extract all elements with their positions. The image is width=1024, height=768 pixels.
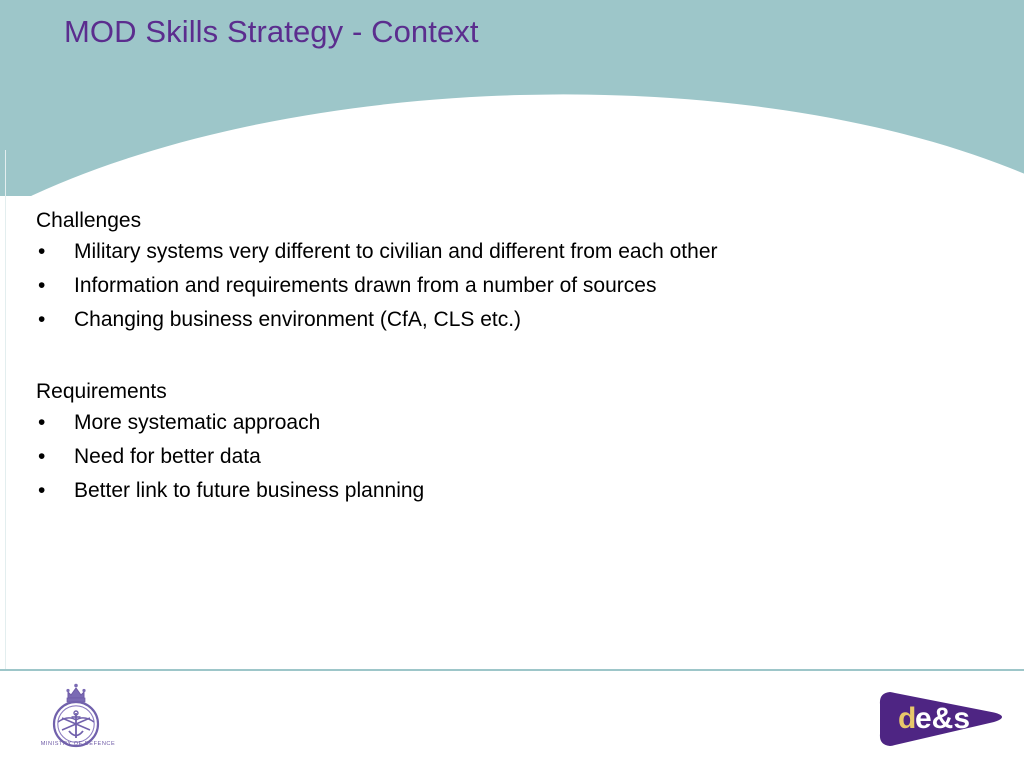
content-group-requirements: Requirements • More systematic approach … [0,377,1024,508]
header-curve-decoration [0,76,1024,196]
mod-crest-icon [24,676,128,762]
group-heading-challenges: Challenges [36,206,1024,235]
des-arrow-logo-icon: d e&s [876,686,1004,752]
bullet-list-challenges: • Military systems very different to civ… [0,235,1024,337]
list-item-text: Changing business environment (CfA, CLS … [74,308,521,331]
list-item: • Need for better data [0,440,949,474]
list-item: • Military systems very different to civ… [0,235,949,269]
list-item-text: Better link to future business planning [74,479,424,502]
svg-text:e&s: e&s [915,702,970,735]
bullet-glyph-icon: • [38,474,48,508]
list-item: • Changing business environment (CfA, CL… [0,303,949,337]
bullet-glyph-icon: • [38,235,48,269]
slide-body: Challenges • Military systems very diffe… [0,206,1024,508]
bullet-glyph-icon: • [38,440,48,474]
list-item-text: Information and requirements drawn from … [74,274,656,297]
list-item: • Better link to future business plannin… [0,474,949,508]
bullet-glyph-icon: • [38,303,48,337]
group-spacer [0,337,1024,377]
list-item: • More systematic approach [0,406,949,440]
group-heading-requirements: Requirements [36,377,1024,406]
svg-text:d: d [898,702,916,735]
bullet-list-requirements: • More systematic approach • Need for be… [0,406,1024,508]
bullet-glyph-icon: • [38,406,48,440]
footer-divider [0,669,1024,671]
list-item-text: Need for better data [74,445,261,468]
mod-logo-caption: MINISTRY OF DEFENCE [24,741,132,747]
bullet-glyph-icon: • [38,269,48,303]
content-group-challenges: Challenges • Military systems very diffe… [0,206,1024,337]
slide-canvas: MOD Skills Strategy - Context Challenges… [0,0,1024,768]
page-title: MOD Skills Strategy - Context [64,12,479,52]
list-item: • Information and requirements drawn fro… [0,269,949,303]
list-item-text: More systematic approach [74,411,320,434]
list-item-text: Military systems very different to civil… [74,240,718,263]
